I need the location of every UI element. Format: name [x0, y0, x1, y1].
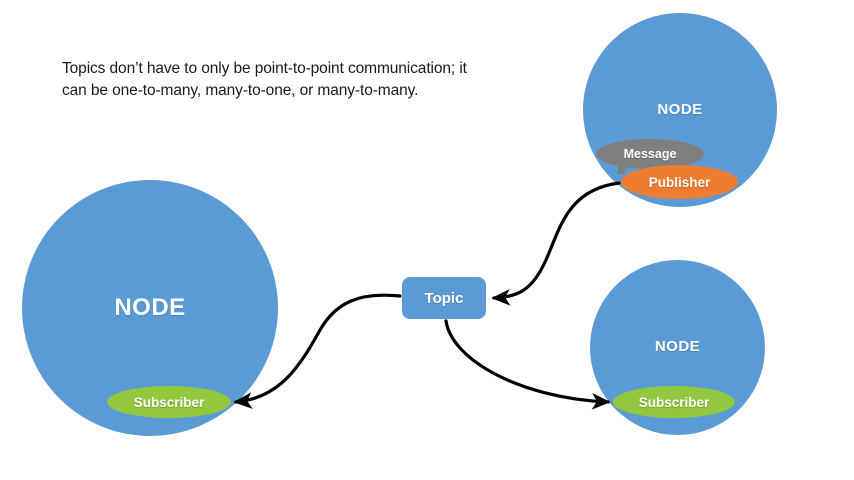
publisher-pill-top-right[interactable]: Publisher [621, 165, 738, 199]
topic-box[interactable]: Topic [402, 277, 486, 319]
node-label-left: NODE [22, 294, 278, 322]
node-label-top-right: NODE [583, 101, 777, 118]
slide-canvas: Topics don’t have to only be point-to-po… [0, 0, 854, 480]
diagram-shapes: NODE Subscriber NODE Message Publisher N… [0, 0, 854, 480]
node-label-bottom-right: NODE [590, 338, 765, 355]
subscriber-pill-bottom-right[interactable]: Subscriber [613, 386, 735, 418]
subscriber-pill-left[interactable]: Subscriber [107, 386, 231, 418]
